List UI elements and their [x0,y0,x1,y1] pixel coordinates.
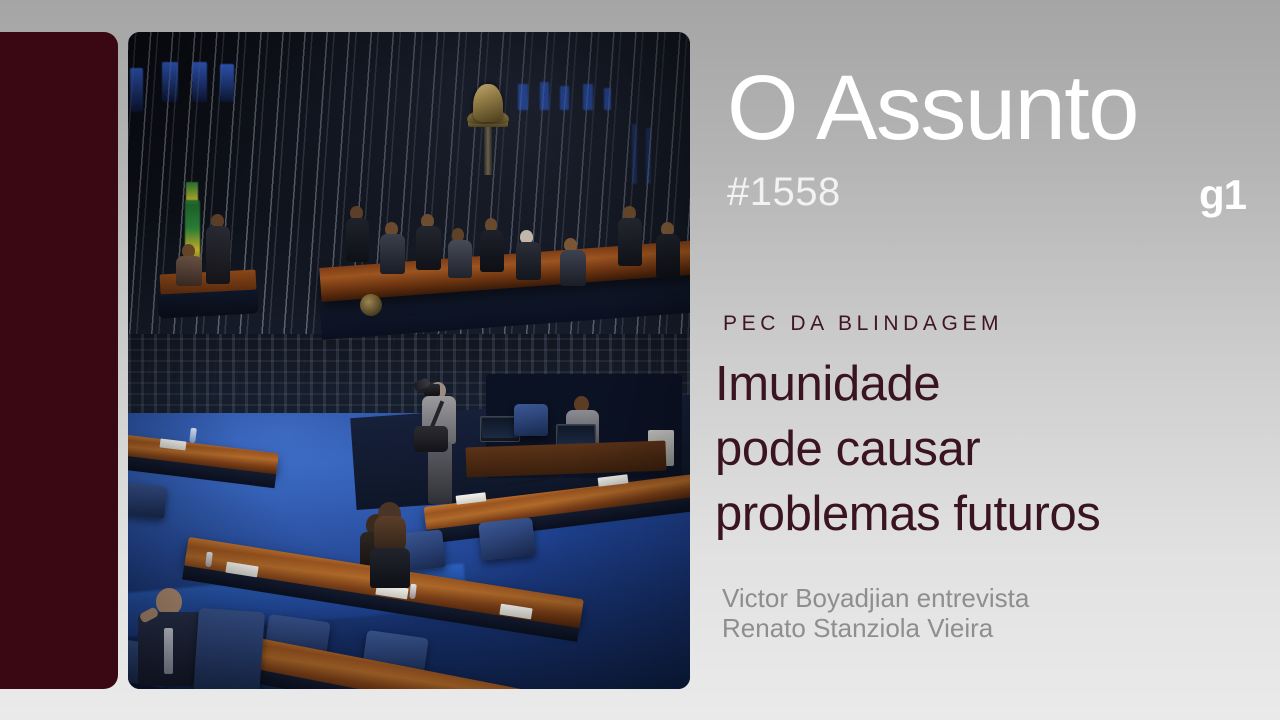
blue-screen-glow [632,124,637,184]
blue-screen-glow [560,86,569,110]
credits-line: Victor Boyadjian entrevista [722,583,1029,613]
person-head [156,588,182,615]
person-torso [206,226,230,284]
senator-chair [128,482,168,519]
person-torso [656,234,680,278]
blue-screen-glow [604,88,611,110]
headline-line: problemas futuros [715,482,1100,547]
person-torso [480,230,504,272]
person-torso [516,242,541,280]
article-credits: Victor Boyadjian entrevista Renato Stanz… [722,583,1029,643]
blue-screen-glow [583,84,593,110]
show-title: O Assunto [727,62,1138,154]
blue-screen-glow [220,64,234,102]
blue-screen-glow [130,68,143,112]
senator-chair [478,517,536,560]
podcast-cover-card: O Assunto #1558 g1 PEC DA BLINDAGEM Imun… [0,0,1280,720]
episode-number: #1558 [727,172,841,212]
bust-support [484,127,492,175]
blue-screen-glow [192,62,207,102]
photo-scene [128,32,690,689]
senator-chair [193,608,265,689]
blue-screen-glow [646,128,651,184]
person-torso [346,218,369,262]
blue-screen-glow [518,84,528,110]
person-torso [618,218,642,266]
person-torso [560,250,586,286]
maroon-accent-bar [0,32,118,689]
person-torso [176,256,202,286]
headline-line: pode causar [715,417,1100,482]
person-torso [416,226,441,270]
person-shirt [164,628,173,674]
person-torso [370,548,410,588]
person-torso [448,240,472,278]
person-torso [380,234,405,274]
article-kicker: PEC DA BLINDAGEM [723,313,1003,334]
blue-screen-glow [540,82,549,110]
camera-bag [414,426,448,452]
credits-line: Renato Stanziola Vieira [722,613,1029,643]
article-headline: Imunidade pode causar problemas futuros [715,352,1100,547]
g1-logo: g1 [1199,174,1246,216]
senate-plenary-photo [128,32,690,689]
bronze-bust-head [473,84,503,122]
office-chair [514,404,548,436]
blue-screen-glow [162,62,178,102]
headline-line: Imunidade [715,352,1100,417]
monitor-screen [482,418,518,438]
